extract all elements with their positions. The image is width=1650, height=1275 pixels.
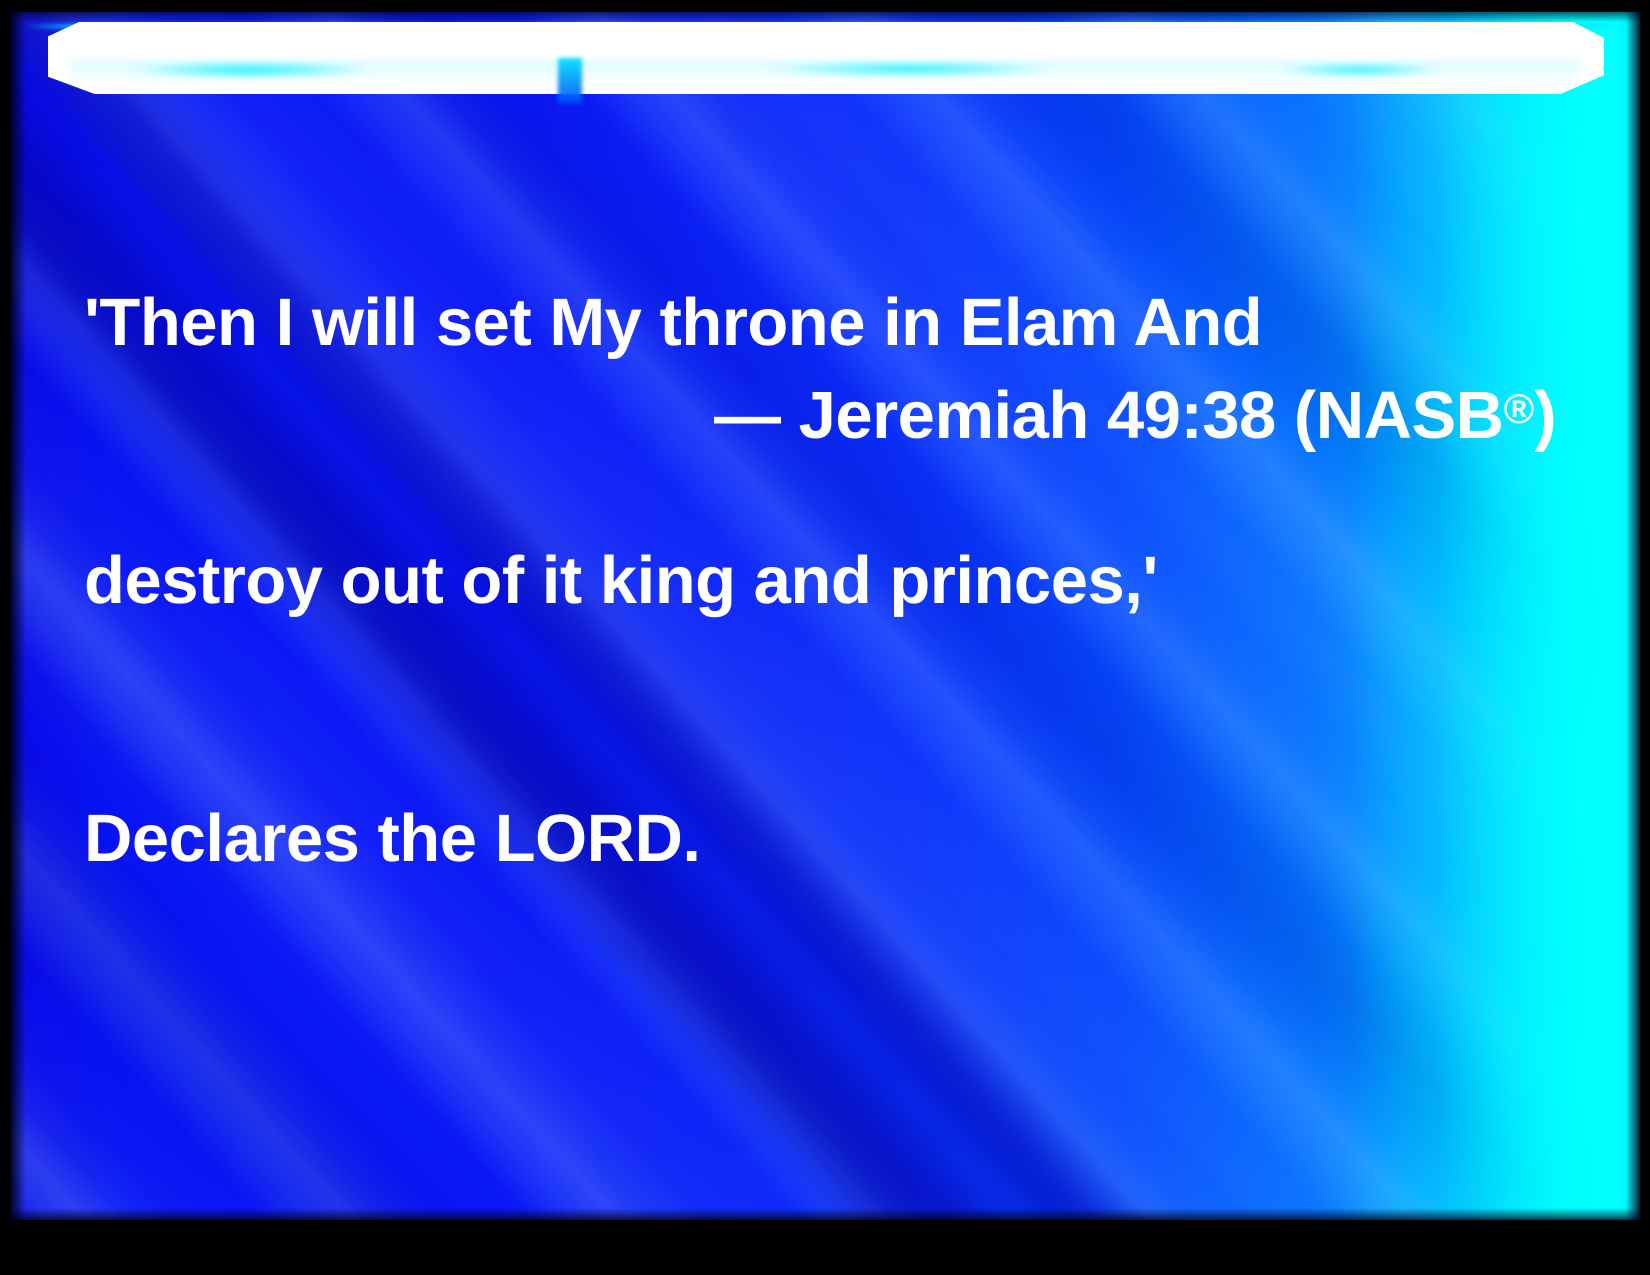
glow-band-core — [48, 22, 1604, 94]
citation-suffix: ) — [1534, 378, 1556, 453]
glow-band-notch — [558, 58, 582, 104]
verse-line-2: destroy out of it king and princes,' — [84, 538, 1584, 624]
registered-trademark-icon: ® — [1504, 385, 1535, 432]
citation-prefix: — Jeremiah 49:38 (NASB — [714, 378, 1504, 453]
verse-line-1: 'Then I will set My throne in Elam And — [84, 280, 1584, 366]
verse-line-3: Declares the LORD. — [84, 796, 1584, 882]
verse-image-canvas: 'Then I will set My throne in Elam And d… — [0, 0, 1650, 1275]
top-glow-band — [10, 12, 1640, 122]
verse-text: 'Then I will set My throne in Elam And d… — [84, 108, 1584, 1054]
verse-citation: — Jeremiah 49:38 (NASB®) — [84, 366, 1556, 459]
